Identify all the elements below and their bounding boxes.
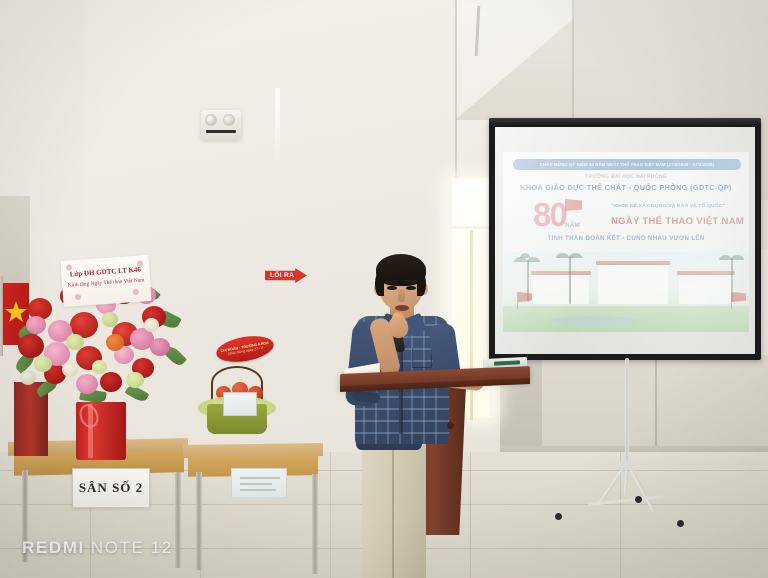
watermark-brand: REDMI (22, 538, 85, 558)
speaker-eye-left (387, 286, 397, 290)
basket-card (223, 392, 257, 416)
slide-building-roof-center (596, 261, 670, 265)
table-right-leg-1 (196, 472, 202, 570)
slide-flag-icon (565, 199, 582, 211)
emergency-lamp-left (205, 114, 217, 126)
photo-scene: CHÀO MỪNG KỶ NIỆM 80 NĂM NGÀY THỂ THAO V… (0, 0, 768, 578)
speaker-hair-right (417, 272, 426, 296)
table-sign-label: SÂN SỐ 2 (79, 480, 143, 496)
table-paper-sign (231, 468, 287, 498)
flower-card-line2: Kính tặng Ngày Thể thao Việt Nam (62, 277, 150, 289)
slide-pond (549, 316, 639, 326)
slide-quote: "KHỎE ĐỂ XÂY DỰNG VÀ BẢO VỆ TỔ QUỐC" (611, 204, 725, 209)
slide-content: CHÀO MỪNG KỶ NIỆM 80 NĂM NGÀY THỂ THAO V… (503, 152, 749, 332)
tripod-hub (620, 460, 634, 469)
slide-banner: CHÀO MỪNG KỶ NIỆM 80 NĂM NGÀY THỂ THAO V… (513, 159, 741, 170)
slide-palm-frond-5 (569, 253, 582, 258)
speaker-mouth (395, 305, 409, 311)
tripod-foot-center (635, 496, 642, 503)
shirt-pocket (412, 348, 432, 368)
exit-sign-label: LỐI RA (270, 272, 294, 279)
slide-building-roof-right (677, 271, 735, 275)
slide-mini-flag-left (518, 292, 532, 302)
speaker-nose (398, 290, 405, 302)
slide-motto: TINH THẦN ĐOÀN KẾT - CÙNG NHAU VƯƠN LÊN (503, 235, 749, 242)
slide-building-left (533, 274, 589, 304)
window-mullion (470, 230, 473, 420)
projector-screen-roller (489, 118, 761, 127)
slide-anniversary-number: 80 (533, 196, 566, 234)
slide-faculty: KHOA GIÁO DỤC THỂ CHẤT - QUỐC PHÒNG (GDT… (503, 183, 749, 192)
wall-corner (455, 0, 457, 200)
tripod-pole (625, 358, 629, 462)
podium-knob (447, 422, 454, 429)
speaker-hair-left (375, 272, 384, 296)
slide-campus-photo (503, 252, 749, 332)
watermark-model: NOTE 12 (91, 538, 173, 558)
slide-mini-flag-right (732, 292, 746, 302)
speaker-trousers (362, 436, 426, 578)
tripod-foot-right (677, 520, 684, 527)
slide-university: TRƯỜNG ĐẠI HỌC HẢI PHÒNG (503, 174, 749, 180)
projector-screen-canvas: CHÀO MỪNG KỶ NIỆM 80 NĂM NGÀY THỂ THAO V… (495, 127, 755, 354)
camera-watermark: REDMI NOTE 12 (22, 538, 173, 558)
tripod-foot-left (555, 513, 562, 520)
ceiling-fixture (275, 88, 280, 160)
slide-banner-text: CHÀO MỪNG KỶ NIỆM 80 NĂM NGÀY THỂ THAO V… (540, 162, 714, 167)
slide-palm-frond-4 (556, 253, 569, 258)
flower-card: Lớp ĐH GDTC LT K46 Kính tặng Ngày Thể th… (61, 255, 152, 307)
speaker-eye-right (406, 286, 416, 290)
table-left-leg-2 (175, 472, 181, 568)
emergency-light-strip (206, 130, 236, 133)
wall-back-corner (655, 355, 657, 455)
table-right-leg-2 (312, 474, 318, 574)
slide-palm-frond-3 (520, 253, 530, 258)
slide-anniversary-unit: NĂM (565, 222, 580, 229)
window-transom (452, 226, 492, 229)
slide-building-right (679, 274, 733, 304)
slide-palm-frond-7 (731, 255, 744, 260)
table-sign: SÂN SỐ 2 (72, 468, 150, 508)
slide-main-title: NGÀY THỂ THAO VIỆT NAM (611, 216, 744, 227)
slide-palm-trunk-2 (569, 256, 571, 304)
emergency-lamp-right (223, 114, 235, 126)
slide-building-center (598, 264, 668, 304)
slide-building-roof-left (531, 271, 591, 275)
